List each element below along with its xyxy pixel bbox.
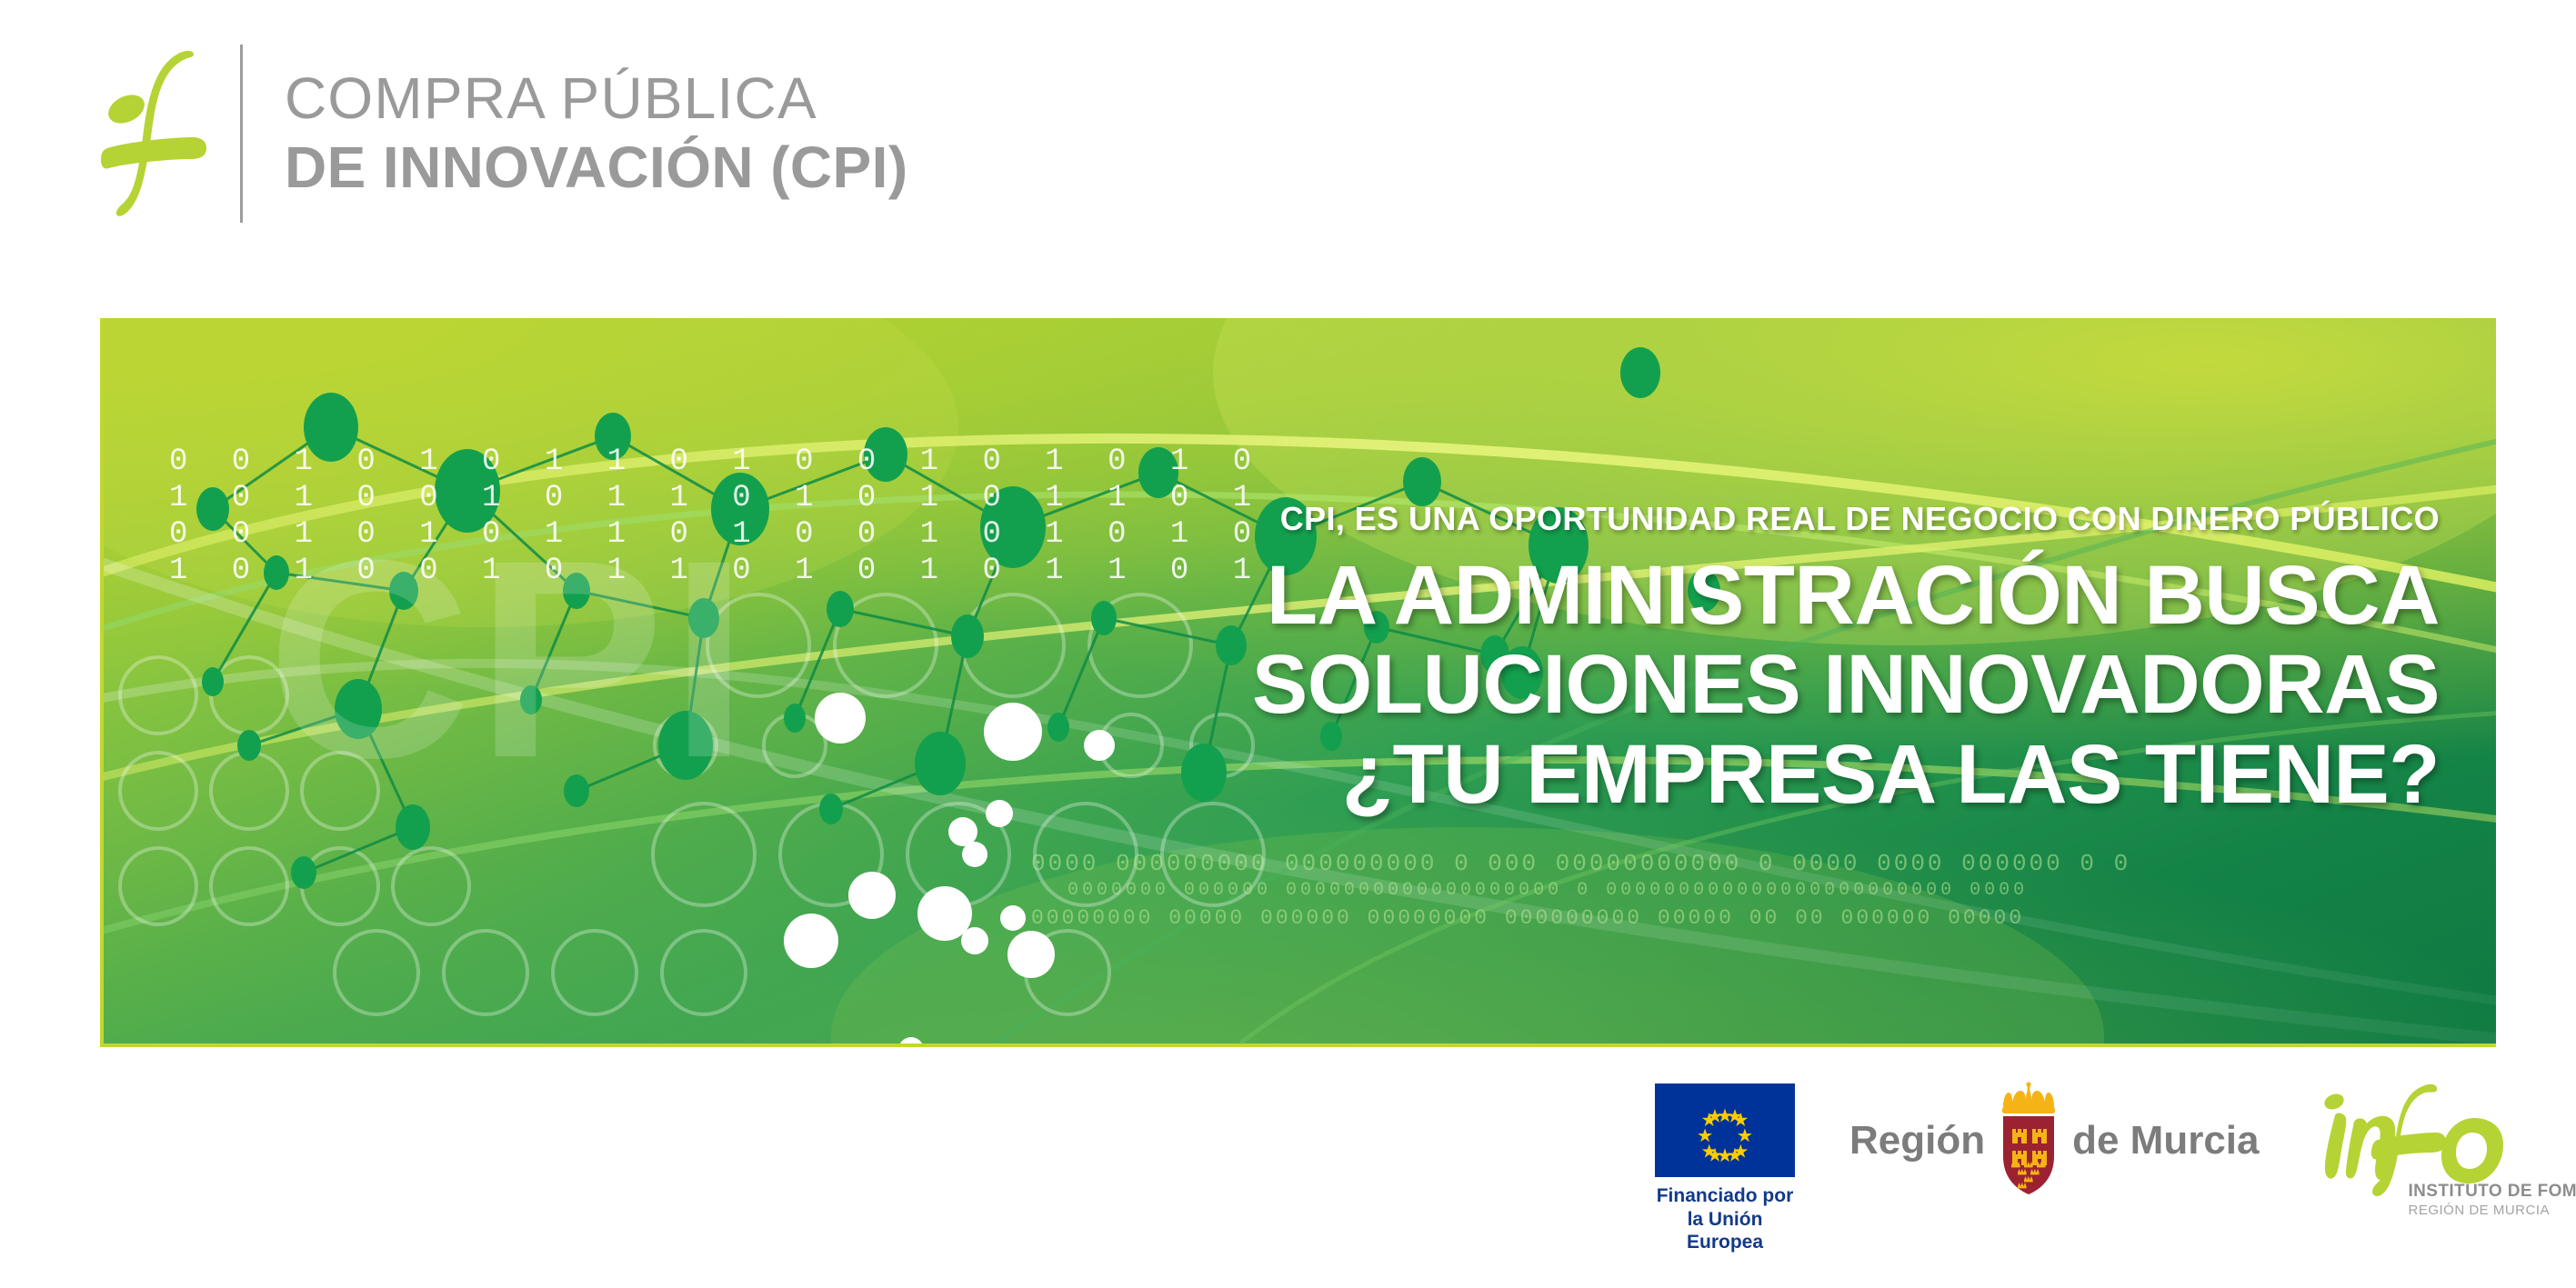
binary-row: 0 0 1 0 1 0 1 1 0 1 0 0 1 0 1 0 1 0 <box>169 444 1078 480</box>
binary-row: 0 0 1 0 1 0 1 1 0 1 0 0 1 0 1 0 1 0 <box>169 516 1078 553</box>
murcia-word-after: de Murcia <box>2072 1121 2259 1161</box>
zeros-pattern: 0000 000000000 000000000 0 000 000000000… <box>1031 850 2486 932</box>
info-logo: INSTITUTO DE FOMENTO REGIÓN DE MURCIA <box>2314 1083 2551 1206</box>
zeros-row: 00000000 00000 000000 00000000 000000000… <box>1031 904 2486 932</box>
brand-divider <box>240 45 243 223</box>
brand-header: COMPRA PÚBLICA DE INNOVACIÓN (CPI) <box>100 38 908 229</box>
banner-headline-line-1: LA ADMINISTRACIÓN BUSCA <box>1076 551 2440 640</box>
european-union-logo: Financiado por la Unión Europea <box>1655 1083 1800 1254</box>
binary-pattern: 0 0 1 0 1 0 1 1 0 1 0 0 1 0 1 0 1 0 1 0 … <box>169 444 1078 589</box>
poster-root: COMPRA PÚBLICA DE INNOVACIÓN (CPI) <box>0 0 2576 1288</box>
european-union-caption: Financiado por la Unión Europea <box>1655 1184 1795 1254</box>
binary-row: 1 0 1 0 0 1 0 1 1 0 1 0 1 0 1 1 0 1 <box>169 553 1078 589</box>
murcia-coat-of-arms-icon <box>1998 1082 2060 1201</box>
info-caption-line-2: REGIÓN DE MURCIA <box>2409 1203 2576 1219</box>
brand-title-line-1: COMPRA PÚBLICA <box>285 65 908 134</box>
banner-headline-line-3: ¿TU EMPRESA LAS TIENE? <box>1076 730 2440 819</box>
banner-copy: CPI, ES UNA OPORTUNIDAD REAL DE NEGOCIO … <box>1076 500 2440 819</box>
murcia-word-before: Región <box>1849 1121 1985 1161</box>
banner-kicker: CPI, ES UNA OPORTUNIDAD REAL DE NEGOCIO … <box>1076 500 2440 538</box>
footer-logos: Financiado por la Unión Europea Región <box>1655 1083 2551 1256</box>
brand-title: COMPRA PÚBLICA DE INNOVACIÓN (CPI) <box>285 65 908 202</box>
zeros-row: 0000000 000000 0000000000000000000 0 000… <box>1031 877 2486 904</box>
european-union-flag-icon <box>1655 1083 1795 1177</box>
hero-banner: CPI 0 0 1 0 1 0 1 1 0 1 0 0 1 0 1 0 1 0 … <box>100 318 2496 1047</box>
region-de-murcia-logo: Región <box>1849 1083 2260 1198</box>
info-caption: INSTITUTO DE FOMENTO REGIÓN DE MURCIA <box>2409 1182 2576 1219</box>
info-caption-line-1: INSTITUTO DE FOMENTO <box>2409 1182 2576 1203</box>
if-brandmark-icon <box>100 43 220 225</box>
zeros-row: 0000 000000000 000000000 0 000 000000000… <box>1031 850 2486 877</box>
eu-caption-line-1: Financiado por <box>1655 1184 1795 1208</box>
binary-row: 1 0 1 0 0 1 0 1 1 0 1 0 1 0 1 1 0 1 <box>169 480 1078 516</box>
banner-headline-line-2: SOLUCIONES INNOVADORAS <box>1076 640 2440 729</box>
eu-caption-line-2: la Unión Europea <box>1655 1208 1795 1254</box>
brand-title-line-2: DE INNOVACIÓN (CPI) <box>285 134 908 203</box>
